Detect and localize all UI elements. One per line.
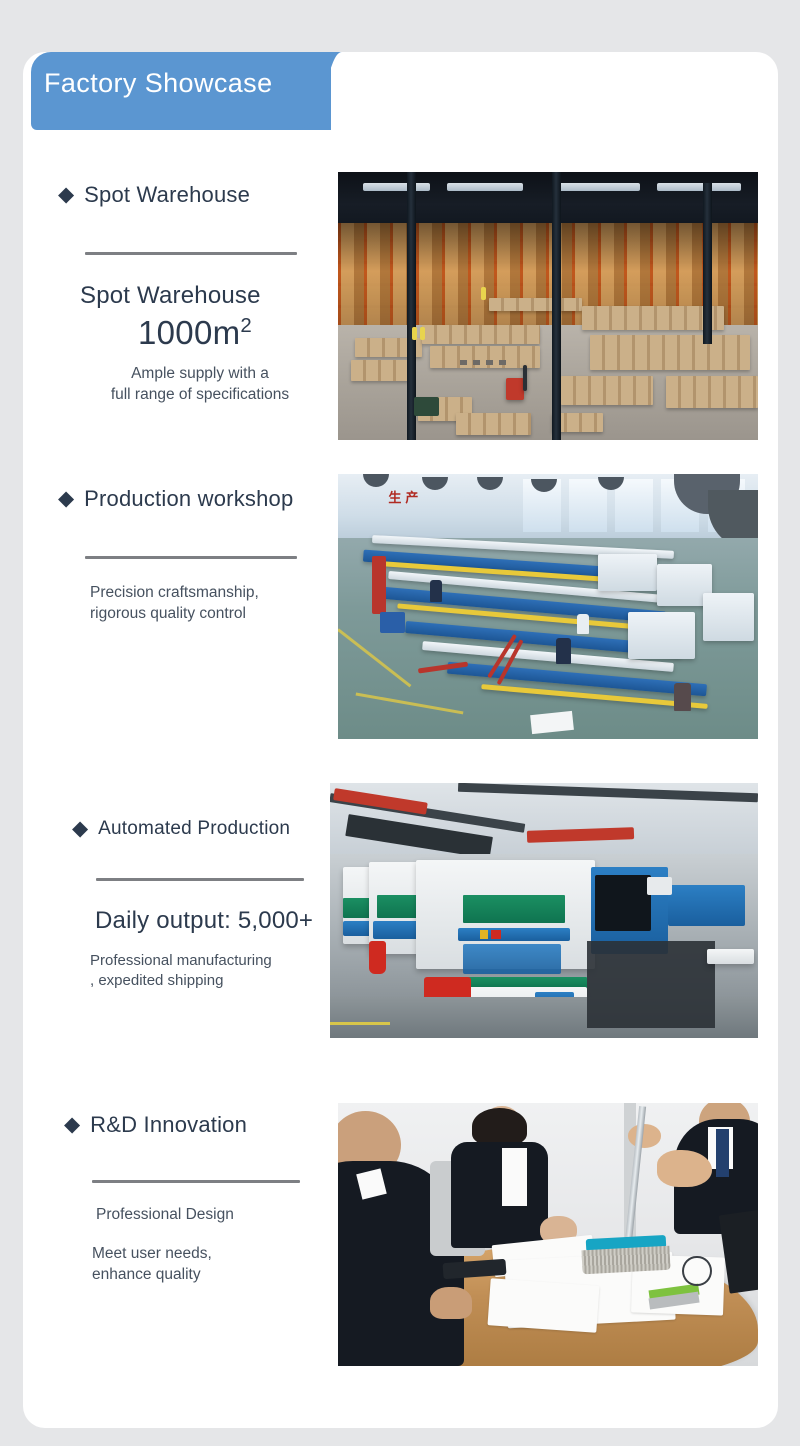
section-divider <box>92 1180 300 1183</box>
section-automated-production: ◆ Automated Production Daily output: 5,0… <box>72 818 342 991</box>
page-title: Factory Showcase <box>44 68 273 99</box>
diamond-bullet-icon: ◆ <box>58 184 74 205</box>
section-image-production-workshop: 生产 <box>338 474 758 739</box>
section-description: Professional manufacturing , expedited s… <box>90 951 342 991</box>
section-production-workshop: ◆ Production workshop Precision craftsma… <box>58 486 328 625</box>
section-image-automated-production <box>330 783 758 1038</box>
section-heading: ◆ Spot Warehouse <box>58 182 318 208</box>
metric-superscript: 2 <box>240 314 252 337</box>
diamond-bullet-icon: ◆ <box>72 818 88 839</box>
section-headline: Spot Warehouse <box>80 282 318 310</box>
section-title: Spot Warehouse <box>84 182 250 208</box>
section-headline: Daily output: 5,000+ <box>95 907 342 935</box>
section-image-spot-warehouse <box>338 172 758 440</box>
section-title: R&D Innovation <box>90 1112 247 1138</box>
diamond-bullet-icon: ◆ <box>58 488 74 509</box>
header-tab-curve <box>296 52 342 130</box>
section-spot-warehouse: ◆ Spot Warehouse Spot Warehouse 1000m2 A… <box>58 182 318 406</box>
section-title: Production workshop <box>84 486 293 512</box>
diamond-bullet-icon: ◆ <box>64 1114 80 1135</box>
header-tab: Factory Showcase <box>31 52 331 130</box>
section-heading: ◆ Production workshop <box>58 486 328 512</box>
image-caption-cn: 生产 <box>388 487 422 506</box>
section-divider <box>96 878 304 881</box>
section-image-rd-innovation <box>338 1103 758 1366</box>
factory-showcase-page: Factory Showcase ◆ Spot Warehouse Spot W… <box>0 0 800 1446</box>
metric-value: 1000m <box>138 314 240 351</box>
section-divider <box>85 556 297 559</box>
section-metric: 1000m2 <box>138 314 318 352</box>
section-description: Precision craftsmanship, rigorous qualit… <box>90 583 328 625</box>
section-divider <box>85 252 297 255</box>
section-description-secondary: Meet user needs, enhance quality <box>92 1244 334 1286</box>
section-heading: ◆ R&D Innovation <box>64 1112 334 1138</box>
section-title: Automated Production <box>98 818 290 840</box>
section-rd-innovation: ◆ R&D Innovation Professional Design Mee… <box>64 1112 334 1285</box>
section-heading: ◆ Automated Production <box>72 818 342 840</box>
section-description-primary: Professional Design <box>96 1205 334 1226</box>
section-description: Ample supply with a full range of specif… <box>100 364 300 406</box>
